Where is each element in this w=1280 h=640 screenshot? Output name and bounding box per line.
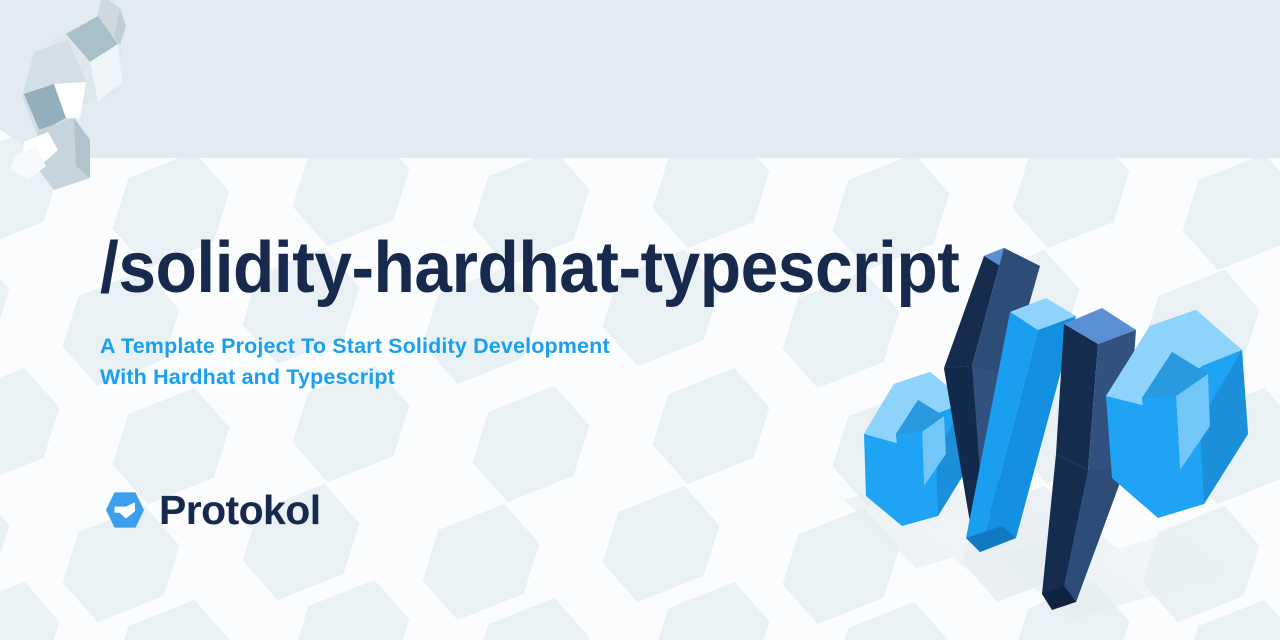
- repository-banner: /solidity-hardhat-typescript A Template …: [0, 0, 1280, 640]
- subtitle-line-2: With Hardhat and Typescript: [100, 365, 395, 389]
- banner-subtitle: A Template Project To Start Solidity Dev…: [100, 305, 700, 393]
- brand-name: Protokol: [159, 490, 320, 531]
- brand-lockup: Protokol: [104, 489, 320, 531]
- header-band: [0, 0, 1280, 158]
- isometric-code-brackets-icon: [820, 238, 1260, 638]
- isometric-abstract-ornament-icon: [0, 0, 174, 220]
- banner-text-block: /solidity-hardhat-typescript A Template …: [100, 232, 920, 393]
- page-title: /solidity-hardhat-typescript: [100, 232, 871, 305]
- hexagon-chevron-icon: [104, 489, 146, 531]
- subtitle-line-1: A Template Project To Start Solidity Dev…: [100, 334, 610, 358]
